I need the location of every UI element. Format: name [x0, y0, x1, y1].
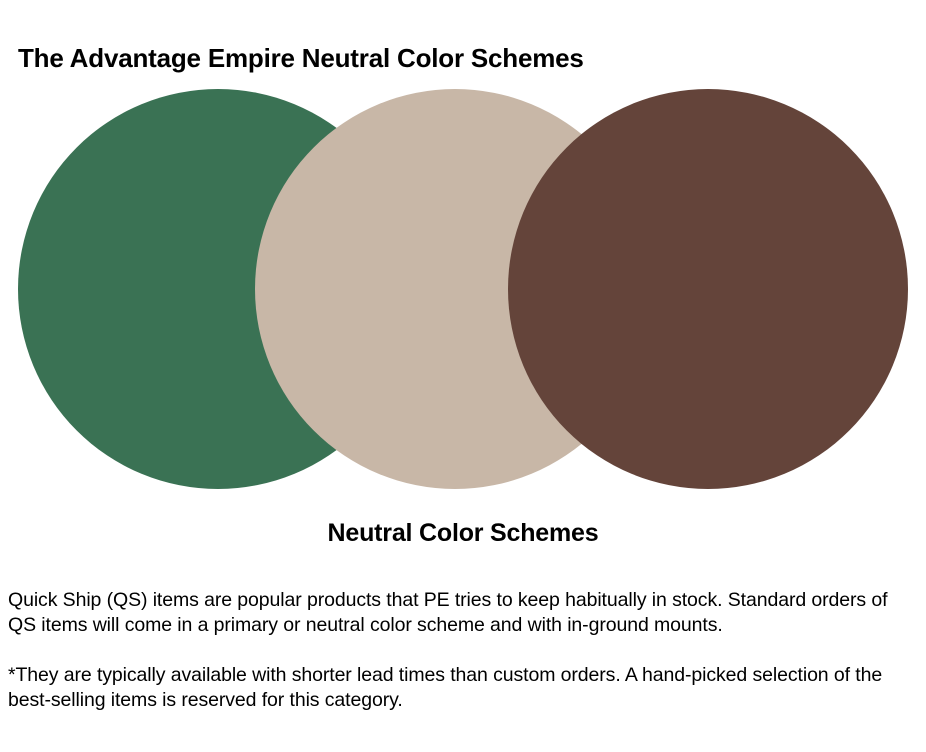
slide-page: The Advantage Empire Neutral Color Schem… — [0, 0, 926, 752]
color-swatch-brown — [508, 89, 908, 489]
paragraph-quick-ship: Quick Ship (QS) items are popular produc… — [8, 588, 896, 638]
color-swatch-group — [0, 0, 926, 510]
swatch-caption: Neutral Color Schemes — [0, 518, 926, 548]
paragraph-lead-times-note: *They are typically available with short… — [8, 663, 896, 713]
body-copy: Quick Ship (QS) items are popular produc… — [8, 588, 896, 713]
